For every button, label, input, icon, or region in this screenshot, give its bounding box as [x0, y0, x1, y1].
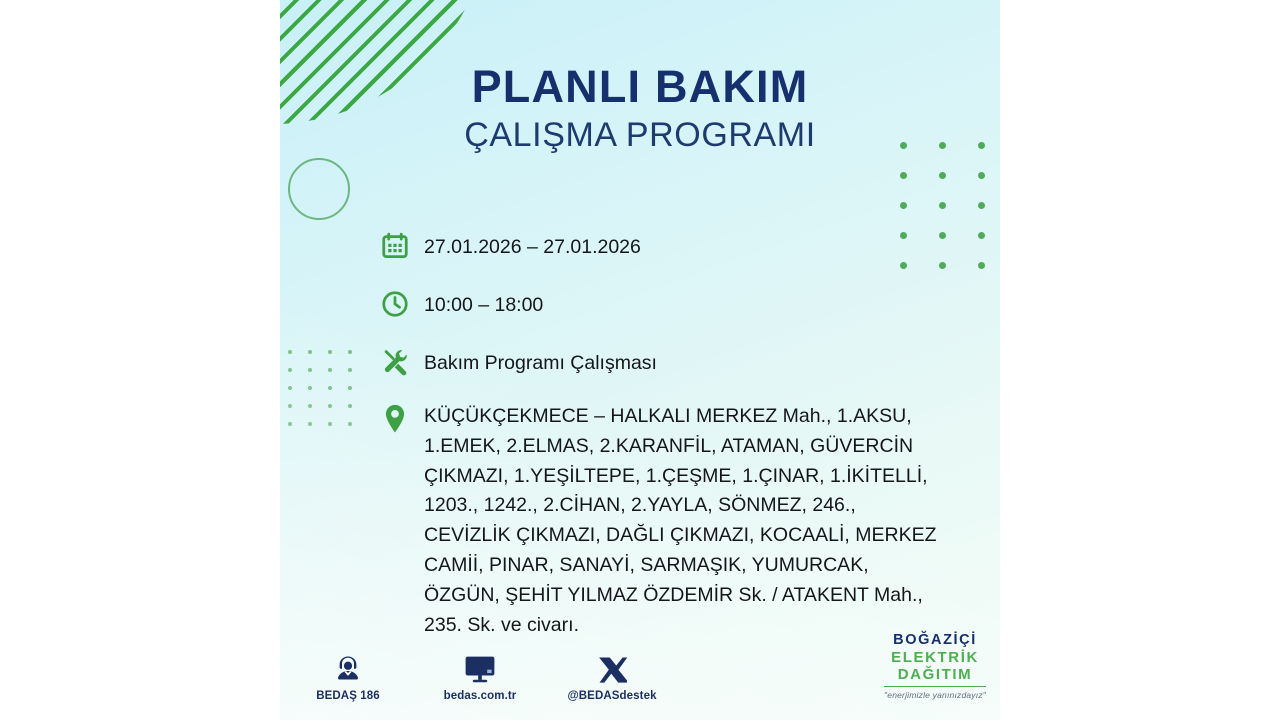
dot-grid-left-decoration [288, 350, 368, 440]
monitor-website-icon [463, 651, 497, 685]
contact-phone[interactable]: BEDAŞ 186 [304, 651, 392, 702]
location-line: 1203., 1242., 2.CİHAN, 2.YAYLA, SÖNMEZ, … [424, 491, 937, 521]
tools-icon [380, 342, 424, 382]
maintenance-notice-card: PLANLI BAKIM ÇALIŞMA PROGRAMI [280, 0, 1000, 720]
page-subtitle: ÇALIŞMA PROGRAMI [280, 117, 1000, 154]
x-twitter-icon [597, 651, 627, 685]
brand-line-3: DAĞITIM [884, 666, 986, 687]
location-line: CAMİİ, PINAR, SANAYİ, SARMAŞIK, YUMURCAK… [424, 551, 937, 581]
location-row: KÜÇÜKÇEKMECE – HALKALI MERKEZ Mah., 1.AK… [380, 400, 990, 641]
location-pin-icon [380, 400, 424, 440]
clock-icon [380, 284, 424, 324]
bedas-logo: BOĞAZİÇİ ELEKTRİK DAĞITIM "enerjimizle y… [884, 632, 986, 700]
brand-line-1: BOĞAZİÇİ [884, 632, 986, 649]
poster-headings: PLANLI BAKIM ÇALIŞMA PROGRAMI [280, 64, 1000, 154]
location-line: 1.EMEK, 2.ELMAS, 2.KARANFİL, ATAMAN, GÜV… [424, 432, 937, 462]
headset-support-icon [332, 651, 364, 685]
date-row: 27.01.2026 – 27.01.2026 [380, 226, 990, 266]
calendar-icon [380, 226, 424, 266]
contact-label: bedas.com.tr [444, 690, 517, 702]
circle-outline-decoration [288, 158, 350, 220]
location-line: ÖZGÜN, ŞEHİT YILMAZ ÖZDEMİR Sk. / ATAKEN… [424, 581, 937, 611]
time-range-value: 10:00 – 18:00 [424, 284, 543, 320]
work-type-row: Bakım Programı Çalışması [380, 342, 990, 382]
contact-website[interactable]: bedas.com.tr [436, 651, 524, 702]
info-list: 27.01.2026 – 27.01.2026 10:00 – 18:00 [380, 226, 990, 641]
contact-label: BEDAŞ 186 [316, 690, 380, 702]
location-line: KÜÇÜKÇEKMECE – HALKALI MERKEZ Mah., 1.AK… [424, 402, 937, 432]
brand-line-2: ELEKTRİK [884, 649, 986, 667]
date-range-value: 27.01.2026 – 27.01.2026 [424, 226, 641, 262]
contact-channels: BEDAŞ 186 bedas.com.tr [304, 651, 656, 702]
poster-frame: PLANLI BAKIM ÇALIŞMA PROGRAMI [0, 0, 1280, 720]
brand-tagline: "enerjimizle yanınızdayız" [884, 690, 986, 700]
poster-footer: BEDAŞ 186 bedas.com.tr [280, 632, 1000, 702]
work-type-value: Bakım Programı Çalışması [424, 342, 657, 378]
location-value: KÜÇÜKÇEKMECE – HALKALI MERKEZ Mah., 1.AK… [424, 400, 937, 641]
location-line: CEVİZLİK ÇIKMAZI, DAĞLI ÇIKMAZI, KOCAALİ… [424, 521, 937, 551]
time-row: 10:00 – 18:00 [380, 284, 990, 324]
contact-x-social[interactable]: @BEDASdestek [568, 651, 656, 702]
contact-label: @BEDASdestek [567, 690, 656, 702]
page-title: PLANLI BAKIM [280, 64, 1000, 111]
location-line: ÇIKMAZI, 1.YEŞİLTEPE, 1.ÇEŞME, 1.ÇINAR, … [424, 462, 937, 492]
